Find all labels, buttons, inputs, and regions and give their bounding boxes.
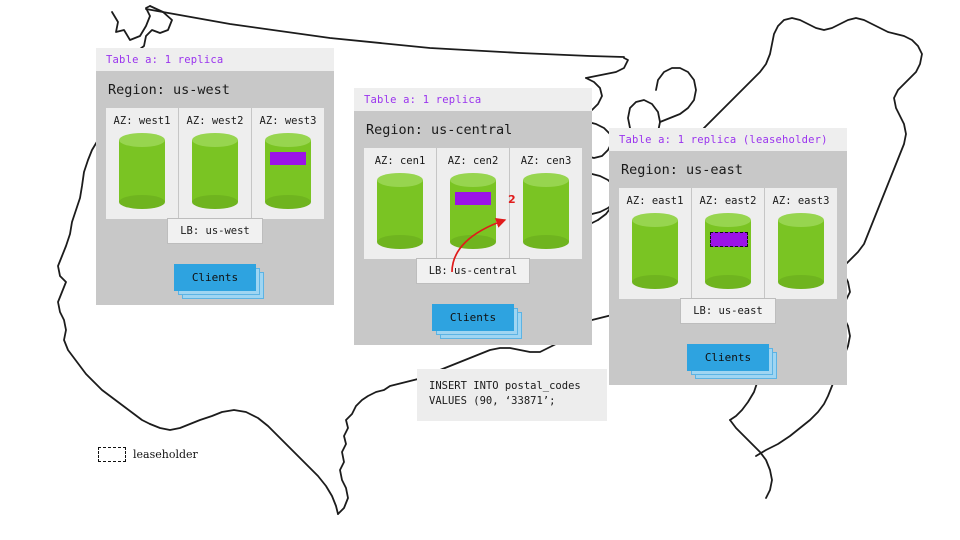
az-cell-west1[interactable]: AZ: west1 [106, 108, 178, 219]
cylinder-bottom [705, 275, 751, 289]
clients-wrapper: Clients [364, 304, 582, 331]
region-panel-us-central: Table a: 1 replica Region: us-central AZ… [354, 88, 592, 345]
az-cell-east1[interactable]: AZ: east1 [619, 188, 691, 299]
region-body: Region: us-west AZ: west1 AZ: west2 [96, 71, 334, 305]
cylinder-body [192, 140, 238, 202]
diagram-canvas: Table a: 1 replica Region: us-west AZ: w… [0, 0, 960, 540]
az-label: AZ: cen3 [514, 155, 578, 167]
clients-wrapper: Clients [106, 264, 324, 291]
lb-wrapper: LB: us-central [364, 258, 582, 284]
cylinder-body [265, 140, 311, 202]
load-balancer-box[interactable]: LB: us-east [680, 298, 776, 324]
cylinder-top [450, 173, 496, 187]
region-header-label: Table a: 1 replica [96, 48, 334, 71]
region-title: Region: us-east [621, 162, 837, 178]
region-body: Region: us-east AZ: east1 AZ: east2 [609, 151, 847, 385]
node-cylinder[interactable] [450, 173, 496, 249]
az-cell-cen2[interactable]: AZ: cen2 [436, 148, 509, 259]
leaseholder-swatch-icon [98, 447, 126, 462]
az-cell-west2[interactable]: AZ: west2 [178, 108, 251, 219]
node-cylinder[interactable] [119, 133, 165, 209]
clients-button[interactable]: Clients [687, 344, 769, 371]
legend: leaseholder [98, 447, 198, 462]
replica-marker[interactable] [455, 192, 491, 205]
cylinder-bottom [523, 235, 569, 249]
cylinder-body [377, 180, 423, 242]
node-cylinder[interactable] [523, 173, 569, 249]
cylinder-top [778, 213, 824, 227]
az-label: AZ: cen1 [368, 155, 432, 167]
cylinder-top [523, 173, 569, 187]
sql-statement-box: INSERT INTO postal_codes VALUES (90, ‘33… [417, 369, 607, 421]
region-header-label: Table a: 1 replica [354, 88, 592, 111]
az-cell-cen1[interactable]: AZ: cen1 [364, 148, 436, 259]
az-cell-cen3[interactable]: AZ: cen3 [509, 148, 582, 259]
clients-stack[interactable]: Clients [432, 304, 514, 331]
node-cylinder[interactable] [778, 213, 824, 289]
cylinder-top [192, 133, 238, 147]
cylinder-bottom [119, 195, 165, 209]
az-row: AZ: west1 AZ: west2 AZ [106, 108, 324, 219]
az-label: AZ: east2 [696, 195, 760, 207]
node-cylinder[interactable] [377, 173, 423, 249]
az-label: AZ: west1 [110, 115, 174, 127]
load-balancer-box[interactable]: LB: us-central [416, 258, 531, 284]
clients-button[interactable]: Clients [432, 304, 514, 331]
lb-wrapper: LB: us-west [106, 218, 324, 244]
az-label: AZ: west3 [256, 115, 320, 127]
cylinder-body [450, 180, 496, 242]
cylinder-body [632, 220, 678, 282]
cylinder-body [523, 180, 569, 242]
clients-wrapper: Clients [619, 344, 837, 371]
cylinder-top [705, 213, 751, 227]
cylinder-bottom [377, 235, 423, 249]
az-row: AZ: east1 AZ: east2 [619, 188, 837, 299]
az-label: AZ: cen2 [441, 155, 505, 167]
cylinder-body [705, 220, 751, 282]
cylinder-bottom [265, 195, 311, 209]
region-header-label: Table a: 1 replica (leaseholder) [609, 128, 847, 151]
cylinder-bottom [632, 275, 678, 289]
replica-marker[interactable] [270, 152, 306, 165]
cylinder-top [265, 133, 311, 147]
cylinder-bottom [778, 275, 824, 289]
node-cylinder[interactable] [192, 133, 238, 209]
node-cylinder[interactable] [705, 213, 751, 289]
cylinder-top [119, 133, 165, 147]
cylinder-bottom [450, 235, 496, 249]
cylinder-top [632, 213, 678, 227]
region-panel-us-east: Table a: 1 replica (leaseholder) Region:… [609, 128, 847, 385]
az-cell-west3[interactable]: AZ: west3 [251, 108, 324, 219]
az-row: AZ: cen1 AZ: cen2 [364, 148, 582, 259]
az-cell-east3[interactable]: AZ: east3 [764, 188, 837, 299]
replica-marker-leaseholder[interactable] [710, 232, 748, 247]
az-label: AZ: east1 [623, 195, 687, 207]
region-body: Region: us-central AZ: cen1 AZ: cen2 [354, 111, 592, 345]
az-label: AZ: east3 [769, 195, 833, 207]
az-label: AZ: west2 [183, 115, 247, 127]
load-balancer-box[interactable]: LB: us-west [167, 218, 263, 244]
az-cell-east2[interactable]: AZ: east2 [691, 188, 764, 299]
node-cylinder[interactable] [265, 133, 311, 209]
clients-stack[interactable]: Clients [687, 344, 769, 371]
cylinder-body [778, 220, 824, 282]
region-title: Region: us-central [366, 122, 582, 138]
clients-stack[interactable]: Clients [174, 264, 256, 291]
clients-button[interactable]: Clients [174, 264, 256, 291]
cylinder-bottom [192, 195, 238, 209]
region-panel-us-west: Table a: 1 replica Region: us-west AZ: w… [96, 48, 334, 305]
legend-label: leaseholder [133, 448, 198, 461]
cylinder-body [119, 140, 165, 202]
node-cylinder[interactable] [632, 213, 678, 289]
cylinder-top [377, 173, 423, 187]
step-number-2: 2 [508, 193, 516, 206]
lb-wrapper: LB: us-east [619, 298, 837, 324]
region-title: Region: us-west [108, 82, 324, 98]
